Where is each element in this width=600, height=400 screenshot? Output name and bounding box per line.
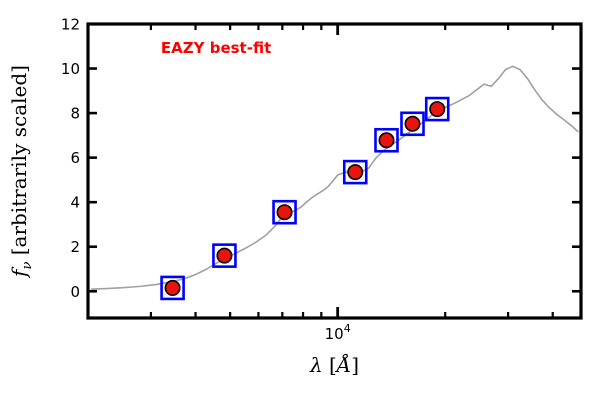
photometry-point-marker [379, 133, 393, 147]
annotations-layer: EAZY best-fit [161, 39, 271, 57]
eazy-best-fit-label: EAZY best-fit [161, 39, 271, 57]
plot-canvas: 024681012104λ [Å]fν [arbitrarily scaled]… [0, 0, 600, 400]
photometry-point-marker [348, 165, 362, 179]
y-axis-tick-label: 6 [70, 149, 80, 167]
x-axis-label: λ [Å] [309, 352, 359, 377]
y-axis-tick-label: 10 [61, 60, 80, 78]
y-axis-tick-label: 0 [70, 283, 80, 301]
x-axis-tick-label: 104 [325, 322, 351, 343]
photometry-point-marker [277, 205, 291, 219]
y-axis-label: fν [arbitrarily scaled] [7, 65, 35, 279]
photometry-point-marker [217, 248, 231, 262]
sed-figure: 024681012104λ [Å]fν [arbitrarily scaled]… [0, 0, 600, 400]
y-axis-tick-label: 4 [70, 194, 80, 212]
photometry-point-marker [405, 117, 419, 131]
photometry-point-marker [430, 102, 444, 116]
y-axis-tick-label: 8 [70, 105, 80, 123]
y-axis-tick-label: 2 [70, 238, 80, 256]
photometry-point-marker [165, 281, 179, 295]
y-axis-tick-label: 12 [61, 16, 80, 34]
